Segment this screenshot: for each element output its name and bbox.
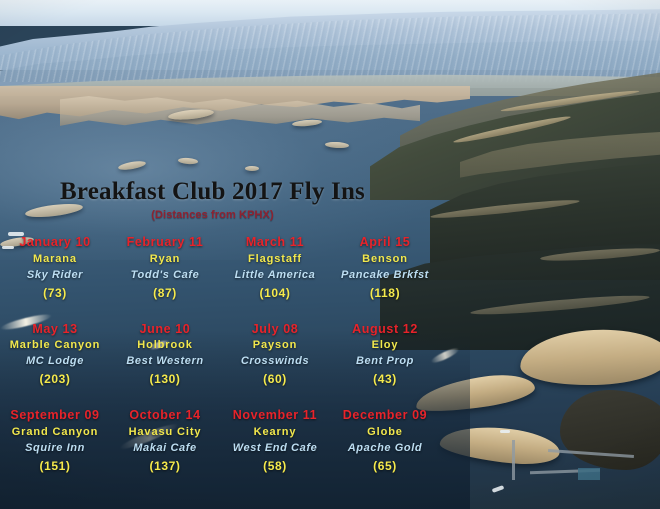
flyin-entry-november[interactable]: November 11 Kearny West End Cafe (58) bbox=[220, 409, 330, 472]
entry-distance: (118) bbox=[330, 287, 440, 299]
entry-date: February 11 bbox=[110, 236, 220, 249]
schedule-row: January 10 Marana Sky Rider (73) Februar… bbox=[0, 236, 440, 299]
entry-city: Payson bbox=[220, 340, 330, 351]
entry-distance: (58) bbox=[220, 460, 330, 472]
entry-date: April 15 bbox=[330, 236, 440, 249]
entry-city: Marble Canyon bbox=[0, 340, 110, 351]
entry-date: July 08 bbox=[220, 323, 330, 336]
entry-venue: Apache Gold bbox=[330, 443, 440, 454]
poster-text-overlay: Breakfast Club 2017 Fly Ins (Distances f… bbox=[0, 0, 660, 509]
entry-date: December 09 bbox=[330, 409, 440, 422]
entry-date: November 11 bbox=[220, 409, 330, 422]
entry-distance: (203) bbox=[0, 373, 110, 385]
entry-city: Marana bbox=[0, 254, 110, 265]
entry-venue: Bent Prop bbox=[330, 356, 440, 367]
entry-venue: Makai Cafe bbox=[110, 443, 220, 454]
entry-city: Benson bbox=[330, 254, 440, 265]
entry-city: Grand Canyon bbox=[0, 427, 110, 438]
page-title: Breakfast Club 2017 Fly Ins bbox=[0, 178, 425, 206]
entry-venue: Crosswinds bbox=[220, 356, 330, 367]
entry-distance: (151) bbox=[0, 460, 110, 472]
flyin-entry-july[interactable]: July 08 Payson Crosswinds (60) bbox=[220, 323, 330, 386]
flyin-poster: Breakfast Club 2017 Fly Ins (Distances f… bbox=[0, 0, 660, 509]
page-subtitle: (Distances from KPHX) bbox=[0, 209, 425, 221]
flyin-entry-may[interactable]: May 13 Marble Canyon MC Lodge (203) bbox=[0, 323, 110, 386]
flyin-entry-august[interactable]: August 12 Eloy Bent Prop (43) bbox=[330, 323, 440, 386]
entry-date: October 14 bbox=[110, 409, 220, 422]
entry-date: June 10 bbox=[110, 323, 220, 336]
entry-venue: Little America bbox=[220, 270, 330, 281]
entry-venue: West End Cafe bbox=[220, 443, 330, 454]
entry-date: May 13 bbox=[0, 323, 110, 336]
flyin-entry-february[interactable]: February 11 Ryan Todd's Cafe (87) bbox=[110, 236, 220, 299]
entry-date: March 11 bbox=[220, 236, 330, 249]
flyin-entry-march[interactable]: March 11 Flagstaff Little America (104) bbox=[220, 236, 330, 299]
entry-distance: (130) bbox=[110, 373, 220, 385]
entry-venue: Todd's Cafe bbox=[110, 270, 220, 281]
schedule-row: May 13 Marble Canyon MC Lodge (203) June… bbox=[0, 323, 440, 386]
entry-venue: Pancake Brkfst bbox=[330, 270, 440, 281]
entry-distance: (87) bbox=[110, 287, 220, 299]
schedule-row: September 09 Grand Canyon Squire Inn (15… bbox=[0, 409, 440, 472]
entry-venue: MC Lodge bbox=[0, 356, 110, 367]
entry-distance: (137) bbox=[110, 460, 220, 472]
flyin-entry-june[interactable]: June 10 Holbrook Best Western (130) bbox=[110, 323, 220, 386]
entry-date: August 12 bbox=[330, 323, 440, 336]
entry-city: Holbrook bbox=[110, 340, 220, 351]
entry-date: September 09 bbox=[0, 409, 110, 422]
entry-distance: (43) bbox=[330, 373, 440, 385]
entry-date: January 10 bbox=[0, 236, 110, 249]
flyin-entry-january[interactable]: January 10 Marana Sky Rider (73) bbox=[0, 236, 110, 299]
entry-city: Flagstaff bbox=[220, 254, 330, 265]
flyin-entry-april[interactable]: April 15 Benson Pancake Brkfst (118) bbox=[330, 236, 440, 299]
entry-distance: (104) bbox=[220, 287, 330, 299]
entry-city: Havasu City bbox=[110, 427, 220, 438]
entry-distance: (60) bbox=[220, 373, 330, 385]
entry-city: Ryan bbox=[110, 254, 220, 265]
entry-distance: (73) bbox=[0, 287, 110, 299]
entry-city: Globe bbox=[330, 427, 440, 438]
entry-venue: Best Western bbox=[110, 356, 220, 367]
entry-venue: Squire Inn bbox=[0, 443, 110, 454]
entry-distance: (65) bbox=[330, 460, 440, 472]
flyin-entry-december[interactable]: December 09 Globe Apache Gold (65) bbox=[330, 409, 440, 472]
entry-city: Kearny bbox=[220, 427, 330, 438]
flyin-schedule-grid: January 10 Marana Sky Rider (73) Februar… bbox=[0, 236, 440, 496]
entry-city: Eloy bbox=[330, 340, 440, 351]
flyin-entry-october[interactable]: October 14 Havasu City Makai Cafe (137) bbox=[110, 409, 220, 472]
entry-venue: Sky Rider bbox=[0, 270, 110, 281]
flyin-entry-september[interactable]: September 09 Grand Canyon Squire Inn (15… bbox=[0, 409, 110, 472]
